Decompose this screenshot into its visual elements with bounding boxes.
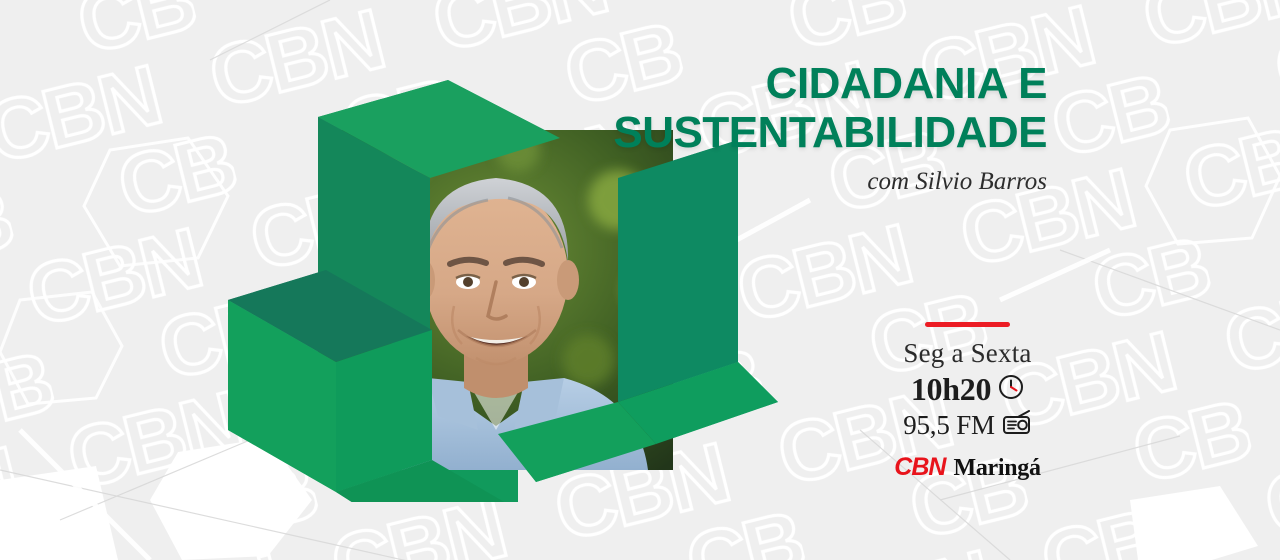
station-logo: CBN Maringá [880,453,1055,482]
station-city-name: Maringá [953,455,1040,482]
schedule-frequency-row: 95,5 FM [880,409,1055,441]
clock-icon [998,374,1024,405]
program-title-line1: CIDADANIA E [527,62,1047,106]
schedule-days: Seg a Sexta [880,339,1055,369]
red-divider [925,322,1010,327]
radio-icon [1002,410,1032,441]
schedule-time-row: 10h20 [880,371,1055,408]
station-network-name: CBN [894,453,945,482]
schedule-frequency: 95,5 FM [903,409,995,441]
program-host-subtitle: com Silvio Barros [527,168,1047,196]
program-title-block: CIDADANIA E SUSTENTABILIDADE com Silvio … [527,62,1047,196]
schedule-block: Seg a Sexta 10h20 95,5 FM [880,322,1055,482]
schedule-time: 10h20 [911,371,991,408]
program-title-line2: SUSTENTABILIDADE [527,111,1047,155]
cbn-program-banner: CBN CBN [0,0,1280,560]
